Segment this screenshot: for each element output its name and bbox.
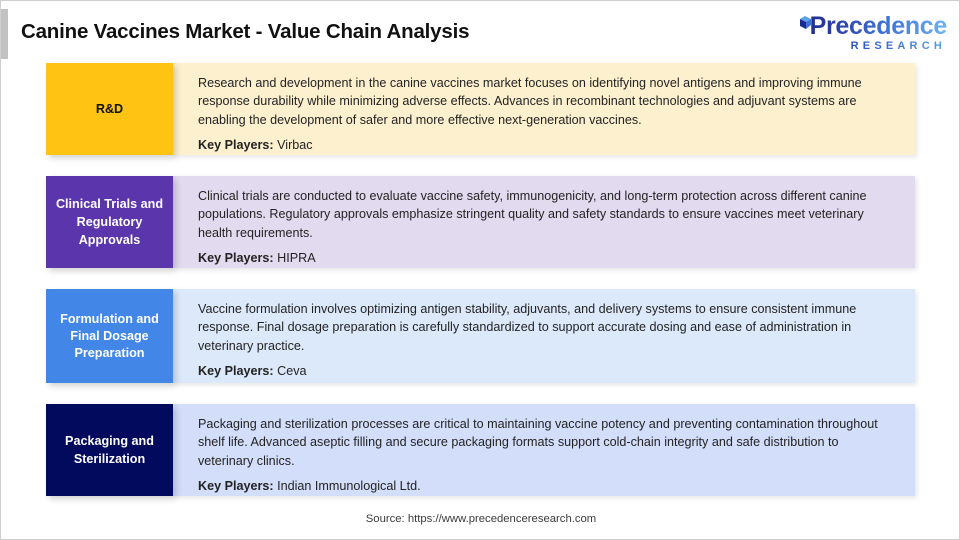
page-title: Canine Vaccines Market - Value Chain Ana… [21,20,469,44]
source-attribution: Source: https://www.precedenceresearch.c… [1,513,960,525]
infographic-page: Canine Vaccines Market - Value Chain Ana… [0,0,960,540]
stage-chip-packaging[interactable]: Packaging and Sterilization [46,404,173,496]
stage-chip-rd[interactable]: R&D [46,63,173,155]
stage-panel-packaging: Packaging and sterilization processes ar… [173,404,915,496]
value-chain-row: Formulation and Final Dosage Preparation… [1,289,960,383]
stage-description: Research and development in the canine v… [198,74,897,129]
logo-mark-icon [800,16,811,29]
stage-label: Clinical Trials and Regulatory Approvals [52,195,167,249]
value-chain-row: R&D Research and development in the cani… [1,63,960,155]
value-chain-rows: R&D Research and development in the cani… [1,63,960,517]
value-chain-row: Clinical Trials and Regulatory Approvals… [1,176,960,268]
key-players-label: Key Players: [198,479,274,493]
key-players-label: Key Players: [198,251,274,265]
logo-subtext: RESEARCH [787,40,947,53]
stage-panel-clinical-trials: Clinical trials are conducted to evaluat… [173,176,915,268]
stage-panel-formulation: Vaccine formulation involves optimizing … [173,289,915,383]
key-players-label: Key Players: [198,138,274,152]
logo-wordmark: Precedence [787,13,947,39]
stage-description: Vaccine formulation involves optimizing … [198,300,897,355]
key-players-value: Indian Immunological Ltd. [277,479,421,493]
stage-chip-clinical-trials[interactable]: Clinical Trials and Regulatory Approvals [46,176,173,268]
stage-key-players: Key Players: Ceva [198,362,897,380]
header: Canine Vaccines Market - Value Chain Ana… [1,1,960,63]
stage-label: R&D [96,100,123,118]
key-players-label: Key Players: [198,364,274,378]
value-chain-row: Packaging and Sterilization Packaging an… [1,404,960,496]
precedence-research-logo: Precedence RESEARCH [787,13,947,55]
stage-key-players: Key Players: HIPRA [198,249,897,267]
stage-key-players: Key Players: Virbac [198,136,897,154]
key-players-value: Virbac [277,138,312,152]
stage-key-players: Key Players: Indian Immunological Ltd. [198,477,897,495]
stage-label: Packaging and Sterilization [52,432,167,468]
key-players-value: Ceva [277,364,306,378]
stage-panel-rd: Research and development in the canine v… [173,63,915,155]
stage-description: Clinical trials are conducted to evaluat… [198,187,897,242]
stage-description: Packaging and sterilization processes ar… [198,415,897,470]
key-players-value: HIPRA [277,251,316,265]
stage-chip-formulation[interactable]: Formulation and Final Dosage Preparation [46,289,173,383]
stage-label: Formulation and Final Dosage Preparation [52,311,167,362]
